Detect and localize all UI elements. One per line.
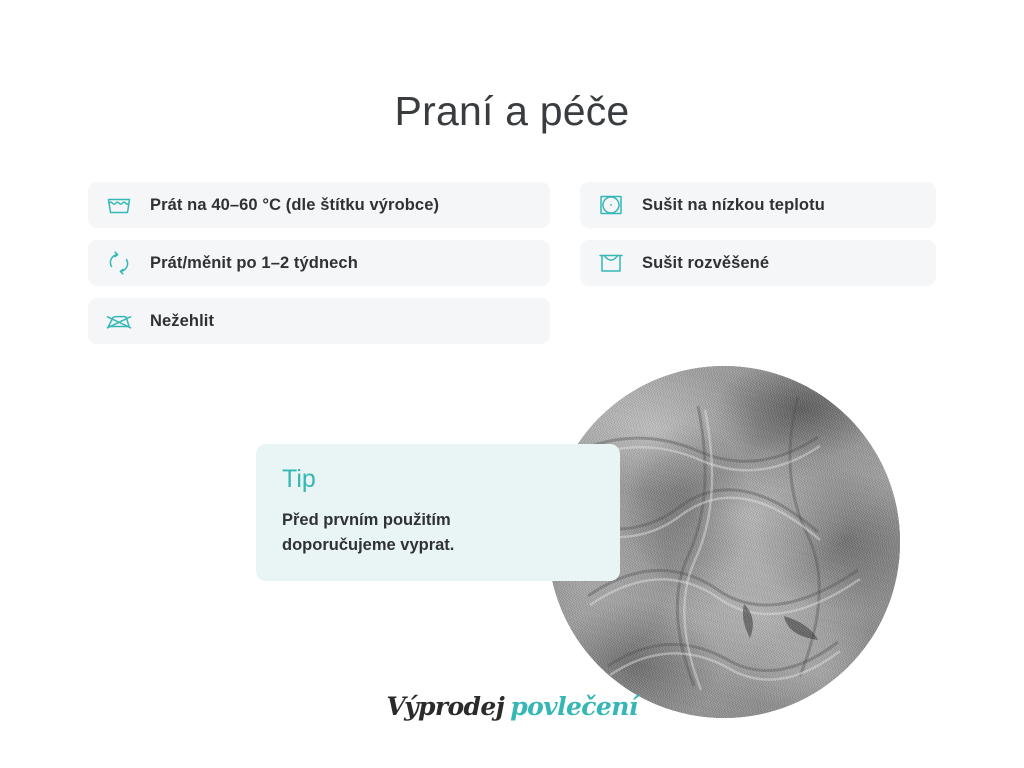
- tip-body-line-2: doporučujeme vyprat.: [282, 533, 594, 559]
- care-item-wash-frequency: Prát/měnit po 1–2 týdnech: [88, 240, 550, 286]
- brand-logo-secondary: povlečení: [510, 692, 638, 721]
- brand-logo[interactable]: Výprodejpovlečení: [0, 692, 1024, 721]
- care-item-label: Prát/měnit po 1–2 týdnech: [150, 254, 358, 273]
- refresh-cycle-icon: [104, 248, 134, 278]
- care-item-do-not-iron: Nežehlit: [88, 298, 550, 344]
- care-item-line-dry: Sušit rozvěšené: [580, 240, 936, 286]
- tip-card: Tip Před prvním použitím doporučujeme vy…: [256, 444, 620, 581]
- care-item-label: Prát na 40–60 °C (dle štítku výrobce): [150, 196, 439, 215]
- care-instructions-page: Praní a péče Prát na 40–60 °C (dle štítk…: [0, 0, 1024, 768]
- wash-tub-icon: [104, 190, 134, 220]
- care-item-tumble-dry-low: Sušit na nízkou teplotu: [580, 182, 936, 228]
- tumble-dry-low-icon: [596, 190, 626, 220]
- do-not-iron-icon: [104, 306, 134, 336]
- brand-logo-primary: Výprodej: [386, 692, 504, 721]
- care-item-wash-temperature: Prát na 40–60 °C (dle štítku výrobce): [88, 182, 550, 228]
- tip-heading: Tip: [282, 466, 594, 494]
- care-item-label: Nežehlit: [150, 312, 214, 331]
- care-list-right: Sušit na nízkou teplotu Sušit rozvěšené: [580, 182, 936, 298]
- tip-body-line-1: Před prvním použitím: [282, 508, 594, 534]
- care-item-label: Sušit rozvěšené: [642, 254, 769, 273]
- care-list-left: Prát na 40–60 °C (dle štítku výrobce) Pr…: [88, 182, 550, 356]
- care-item-label: Sušit na nízkou teplotu: [642, 196, 825, 215]
- line-dry-icon: [596, 248, 626, 278]
- page-title: Praní a péče: [0, 87, 1024, 136]
